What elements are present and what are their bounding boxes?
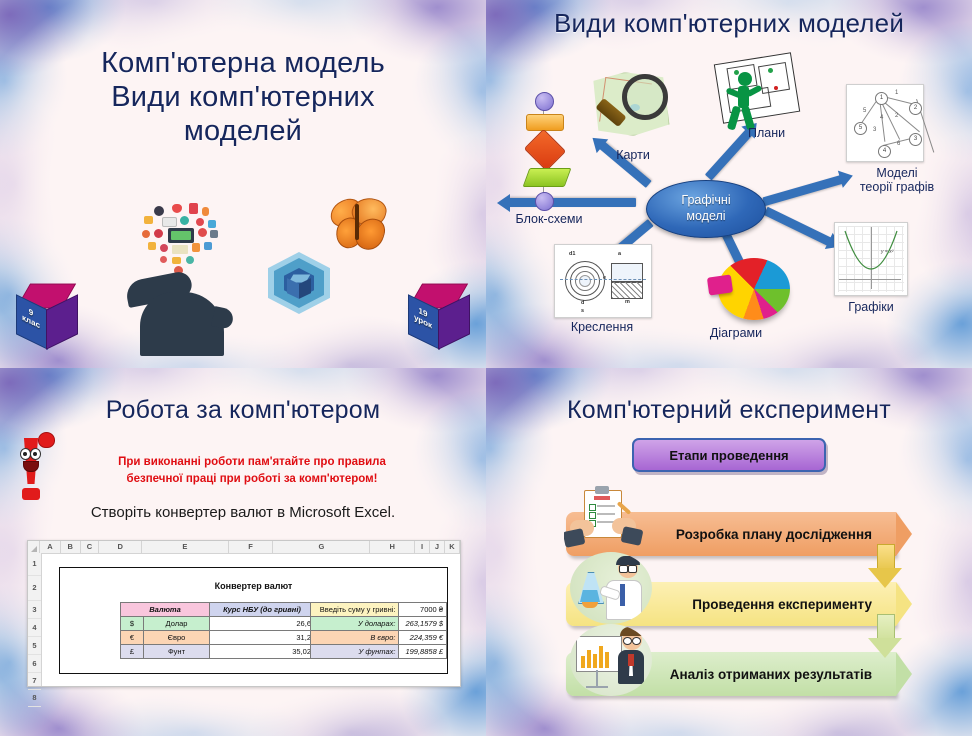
graph-node-5: 5: [854, 122, 867, 135]
technical-drawing-icon: d1 a d s e m: [554, 244, 652, 318]
down-arrow-icon: [868, 614, 902, 660]
cell-symbol-usd: $: [121, 617, 144, 631]
hexagon-cube-icon: [268, 252, 330, 314]
label-eur-result: В євро:: [311, 631, 399, 645]
converter-title: Конвертер валют: [60, 581, 447, 591]
excel-col-D[interactable]: D: [99, 541, 142, 553]
header-nbu-rate: Курс НБУ (до гривні): [210, 603, 315, 617]
clipboard-checklist-icon: [564, 484, 650, 558]
cell-symbol-gbp: £: [121, 645, 144, 659]
table-row: € Євро 31,2: [121, 631, 315, 645]
excel-row-7[interactable]: 7: [28, 673, 41, 690]
down-arrow-icon: [868, 544, 902, 590]
cube-lesson-19: 19 урок: [406, 282, 470, 346]
excel-row-8[interactable]: 8: [28, 690, 41, 707]
head-silhouette-shape: [140, 292, 224, 356]
center-label-line-2: моделі: [686, 209, 725, 225]
value-eur-result: 224,359 €: [399, 631, 447, 645]
cell-symbol-eur: €: [121, 631, 144, 645]
slide2-title: Види комп'ютерних моделей: [486, 8, 972, 39]
cube-class-9: 9 клас: [14, 282, 78, 346]
slide-computer-experiment: Комп'ютерний експеримент Етапи проведенн…: [486, 368, 972, 736]
table-row: Введіть суму у гривні: 7000 ₴: [311, 603, 447, 617]
butterfly-icon: [330, 198, 388, 252]
excel-col-G[interactable]: G: [273, 541, 370, 553]
map-magnifier-icon: [590, 68, 672, 142]
cell-rate-eur: 31,2: [210, 631, 315, 645]
currency-rates-table: Валюта Курс НБУ (до гривні) $ Долар 26,6…: [120, 602, 315, 659]
table-row: £ Фунт 35,02: [121, 645, 315, 659]
table-row: У доларах: 263,1579 $: [311, 617, 447, 631]
excel-spreadsheet[interactable]: A B C D E F G H I J K 1 2 3 4 5: [27, 540, 461, 687]
excel-col-H[interactable]: H: [370, 541, 415, 553]
graph-network-icon: 1 2 3 4 5 1 5 4 2 3 6: [846, 84, 924, 162]
cell-rate-usd: 26,6: [210, 617, 315, 631]
label-gbp-result: У фунтах:: [311, 645, 399, 659]
excel-row-6[interactable]: 6: [28, 655, 41, 673]
graph-node-3: 3: [909, 133, 922, 146]
label-karty: Карти: [598, 148, 668, 162]
excel-row-1[interactable]: 1: [28, 553, 41, 576]
center-label-line-1: Графічні: [681, 193, 730, 209]
table-row: В євро: 224,359 €: [311, 631, 447, 645]
presenter-chart-icon: [570, 624, 652, 696]
label-plany: Плани: [748, 126, 808, 140]
cell-name-eur: Євро: [144, 631, 210, 645]
cell-name-gbp: Фунт: [144, 645, 210, 659]
slide-deck: Комп'ютерна модель Види комп'ютерних мод…: [0, 0, 972, 736]
cell-rate-gbp: 35,02: [210, 645, 315, 659]
graph-node-2: 2: [909, 102, 922, 115]
label-graph-models-line2: теорії графів: [832, 180, 962, 194]
table-header-row: Валюта Курс НБУ (до гривні): [121, 603, 315, 617]
title-line-3: моделей: [0, 114, 486, 148]
excel-row-4[interactable]: 4: [28, 619, 41, 637]
head-with-ideas-icon: [118, 250, 242, 356]
excel-row-5[interactable]: 5: [28, 637, 41, 655]
excel-col-E[interactable]: E: [142, 541, 229, 553]
excel-col-B[interactable]: B: [61, 541, 81, 553]
slide3-title: Робота за комп'ютером: [0, 396, 486, 426]
slide-computer-work: Робота за комп'ютером При виконанні робо…: [0, 368, 486, 736]
center-node-graphic-models: Графічні моделі: [646, 180, 766, 238]
plot-formula: y = x²: [881, 249, 893, 255]
arrow-to-grafiky: [764, 207, 833, 247]
slide4-title: Комп'ютерний експеримент: [486, 396, 972, 426]
warning-line-2: безпечної праці при роботі за комп'ютеро…: [44, 471, 460, 488]
stages-button-label: Етапи проведення: [669, 448, 788, 463]
excel-col-J[interactable]: J: [430, 541, 445, 553]
table-row: У фунтах: 199,8858 £: [311, 645, 447, 659]
label-usd-result: У доларах:: [311, 617, 399, 631]
label-diagramy: Діаграми: [686, 326, 786, 340]
label-kreslennya: Креслення: [552, 320, 652, 334]
value-input-hryvnia[interactable]: 7000 ₴: [399, 603, 447, 617]
scientist-flask-icon: [570, 552, 652, 624]
label-input-hryvnia: Введіть суму у гривні:: [311, 603, 399, 617]
label-graph-models: Моделі теорії графів: [832, 166, 962, 195]
step-2-label: Проведення експерименту: [692, 597, 872, 612]
excel-col-C[interactable]: C: [81, 541, 99, 553]
parabola-plot-icon: y = x²: [834, 222, 908, 296]
step-1-label: Розробка плану дослідження: [676, 527, 872, 542]
excel-col-F[interactable]: F: [229, 541, 274, 553]
graph-node-4: 4: [878, 145, 891, 158]
title-line-2: Види комп'ютерних: [0, 80, 486, 114]
value-gbp-result: 199,8858 £: [399, 645, 447, 659]
excel-col-K[interactable]: K: [445, 541, 460, 553]
graph-node-1: 1: [875, 92, 888, 105]
warning-line-1: При виконанні роботи пам'ятайте про прав…: [44, 454, 460, 471]
title-line-1: Комп'ютерна модель: [0, 46, 486, 80]
excel-grid-body: Конвертер валют Валюта Курс НБУ (до грив…: [41, 553, 460, 686]
value-usd-result: 263,1579 $: [399, 617, 447, 631]
safety-warning-text: При виконанні роботи пам'ятайте про прав…: [44, 454, 460, 487]
stages-button[interactable]: Етапи проведення: [632, 438, 826, 472]
excel-row-headers: 1 2 3 4 5 6 7 8: [28, 553, 42, 686]
excel-row-3[interactable]: 3: [28, 601, 41, 619]
excel-col-I[interactable]: I: [415, 541, 430, 553]
label-grafiky: Графіки: [826, 300, 916, 314]
step-3-label: Аналіз отриманих результатів: [670, 667, 872, 682]
conversion-results-table: Введіть суму у гривні: 7000 ₴ У доларах:…: [310, 602, 447, 659]
slide1-title: Комп'ютерна модель Види комп'ютерних мод…: [0, 46, 486, 149]
excel-row-2[interactable]: 2: [28, 576, 41, 601]
ideas-heart-icon: [142, 202, 226, 282]
excel-col-A[interactable]: A: [40, 541, 60, 553]
label-blok-shemy: Блок-схеми: [494, 212, 604, 226]
slide-model-types: Види комп'ютерних моделей Графічні модел…: [486, 0, 972, 368]
excel-select-all-corner[interactable]: [28, 541, 40, 553]
table-row: $ Долар 26,6: [121, 617, 315, 631]
label-graph-models-line1: Моделі: [832, 166, 962, 180]
runner-figure-icon: [724, 72, 764, 134]
cell-name-usd: Долар: [144, 617, 210, 631]
slide-title: Комп'ютерна модель Види комп'ютерних мод…: [0, 0, 486, 368]
header-currency: Валюта: [121, 603, 210, 617]
converter-outer-border: Конвертер валют Валюта Курс НБУ (до грив…: [59, 567, 448, 674]
flowchart-icon: [514, 92, 574, 202]
task-text: Створіть конвертер валют в Microsoft Exc…: [26, 504, 460, 521]
